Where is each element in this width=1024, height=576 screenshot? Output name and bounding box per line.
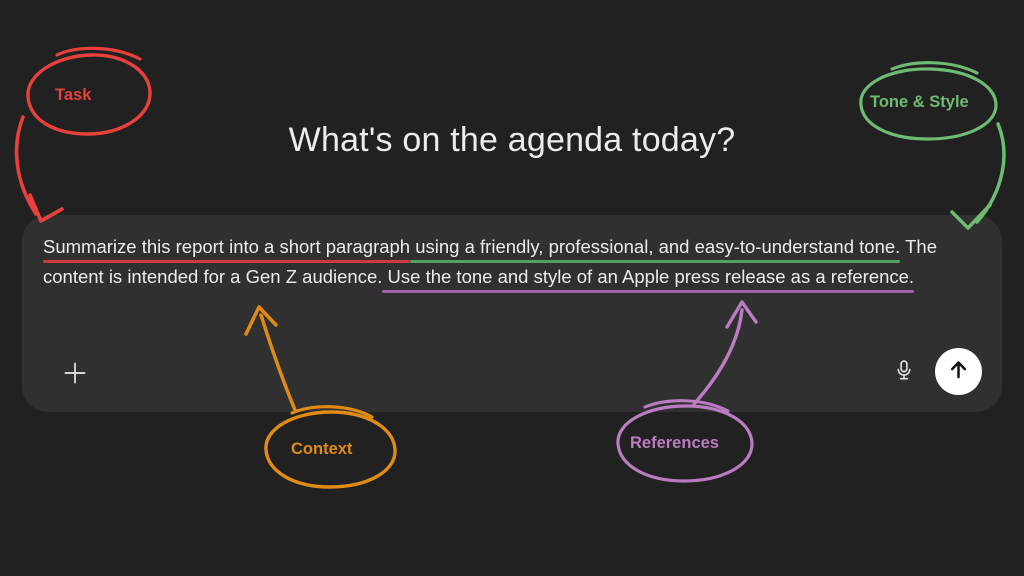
annotation-label-tone-style: Tone & Style [870,93,969,112]
annotation-label-references: References [630,434,719,453]
prompt-segment-references: Use the tone and style of an Apple press… [382,266,914,289]
voice-input-button[interactable] [888,356,920,388]
prompt-segment-tone: using a friendly, professional, and easy… [410,236,900,259]
composer-actions [22,340,1002,412]
arrow-up-icon [946,357,971,387]
prompt-composer[interactable]: Summarize this report into a short parag… [22,215,1002,412]
microphone-icon [892,358,916,387]
add-attachment-button[interactable] [58,356,92,390]
prompt-segment-task: Summarize this report into a short parag… [43,236,410,259]
annotation-label-task: Task [55,86,91,105]
page-title: What's on the agenda today? [0,120,1024,161]
screenshot-root: What's on the agenda today? Summarize th… [0,0,1024,576]
send-button[interactable] [935,348,982,395]
plus-icon [62,360,88,386]
annotation-label-context: Context [291,440,352,459]
prompt-input[interactable]: Summarize this report into a short parag… [43,232,983,292]
